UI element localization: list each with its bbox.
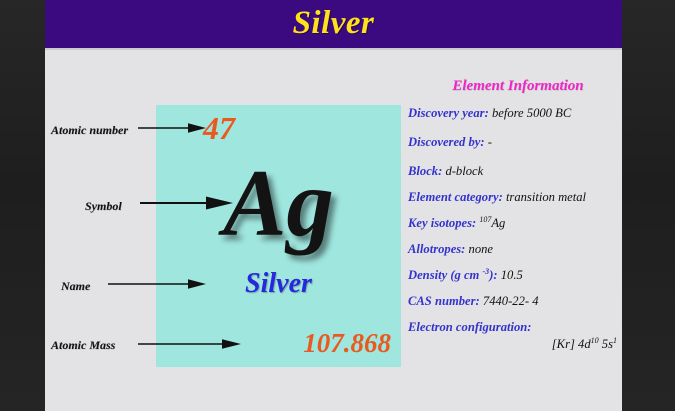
info-panel-heading: Element Information: [408, 78, 622, 95]
screenshot-root: Silver 47 Ag Silver 107.868 Atomic numbe…: [0, 0, 675, 411]
isotope-superscript: 107: [479, 215, 491, 224]
density-label-main: Density (g cm: [408, 268, 479, 282]
density-label-tail: ):: [489, 268, 497, 282]
info-row-allotropes: Allotropes: none: [408, 242, 622, 257]
info-row-element-category: Element category: transition metal: [408, 190, 622, 205]
callout-label-symbol: Symbol: [85, 199, 122, 214]
info-label-density: Density (g cm -3):: [408, 268, 498, 282]
info-row-discovery-year: Discovery year: before 5000 BC: [408, 106, 622, 121]
info-value-electron-configuration: [Kr] 4d10 5s1: [408, 337, 622, 352]
atomic-number-value: 47: [203, 110, 235, 147]
info-label-element-category: Element category:: [408, 190, 503, 204]
element-information-panel: Element Information Discovery year: befo…: [408, 78, 622, 363]
econfig-sup-d: 10: [591, 336, 599, 345]
info-row-electron-configuration: Electron configuration: [Kr] 4d10 5s1: [408, 320, 622, 352]
banner-divider: [45, 48, 622, 50]
slide-title-banner: Silver: [45, 0, 622, 48]
econfig-sup-s: 1: [613, 336, 617, 345]
info-row-density: Density (g cm -3): 10.5: [408, 268, 622, 283]
page-title: Silver: [45, 2, 622, 44]
info-value-block: d-block: [445, 164, 483, 178]
econfig-mid: 5s: [599, 337, 613, 351]
info-value-allotropes: none: [469, 242, 493, 256]
info-label-allotropes: Allotropes:: [408, 242, 465, 256]
callout-label-name: Name: [61, 279, 90, 294]
callout-label-atomic-mass: Atomic Mass: [51, 338, 115, 353]
info-row-discovered-by: Discovered by: -: [408, 135, 622, 150]
info-value-element-category: transition metal: [506, 190, 586, 204]
isotope-symbol: Ag: [491, 216, 505, 230]
info-label-discovered-by: Discovered by:: [408, 135, 485, 149]
info-label-key-isotopes: Key isotopes:: [408, 216, 476, 230]
callout-label-atomic-number: Atomic number: [51, 123, 128, 138]
info-label-discovery-year: Discovery year:: [408, 106, 489, 120]
element-name-value: Silver: [156, 268, 401, 300]
info-label-block: Block:: [408, 164, 442, 178]
element-card: 47 Ag Silver 107.868: [156, 105, 401, 367]
info-row-cas-number: CAS number: 7440-22- 4: [408, 294, 622, 309]
info-row-key-isotopes: Key isotopes: 107Ag: [408, 216, 622, 231]
econfig-core: [Kr] 4d: [552, 337, 591, 351]
info-label-electron-configuration: Electron configuration:: [408, 320, 532, 334]
info-value-discovery-year: before 5000 BC: [492, 106, 571, 120]
info-value-discovered-by: -: [488, 135, 492, 149]
element-symbol-value: Ag: [156, 147, 401, 259]
info-value-density: 10.5: [501, 268, 523, 282]
info-label-cas-number: CAS number:: [408, 294, 480, 308]
info-row-block: Block: d-block: [408, 164, 622, 179]
info-value-cas-number: 7440-22- 4: [483, 294, 539, 308]
info-value-key-isotopes: 107Ag: [479, 216, 505, 230]
presentation-slide: Silver 47 Ag Silver 107.868 Atomic numbe…: [45, 0, 622, 411]
atomic-mass-value: 107.868: [156, 328, 401, 359]
